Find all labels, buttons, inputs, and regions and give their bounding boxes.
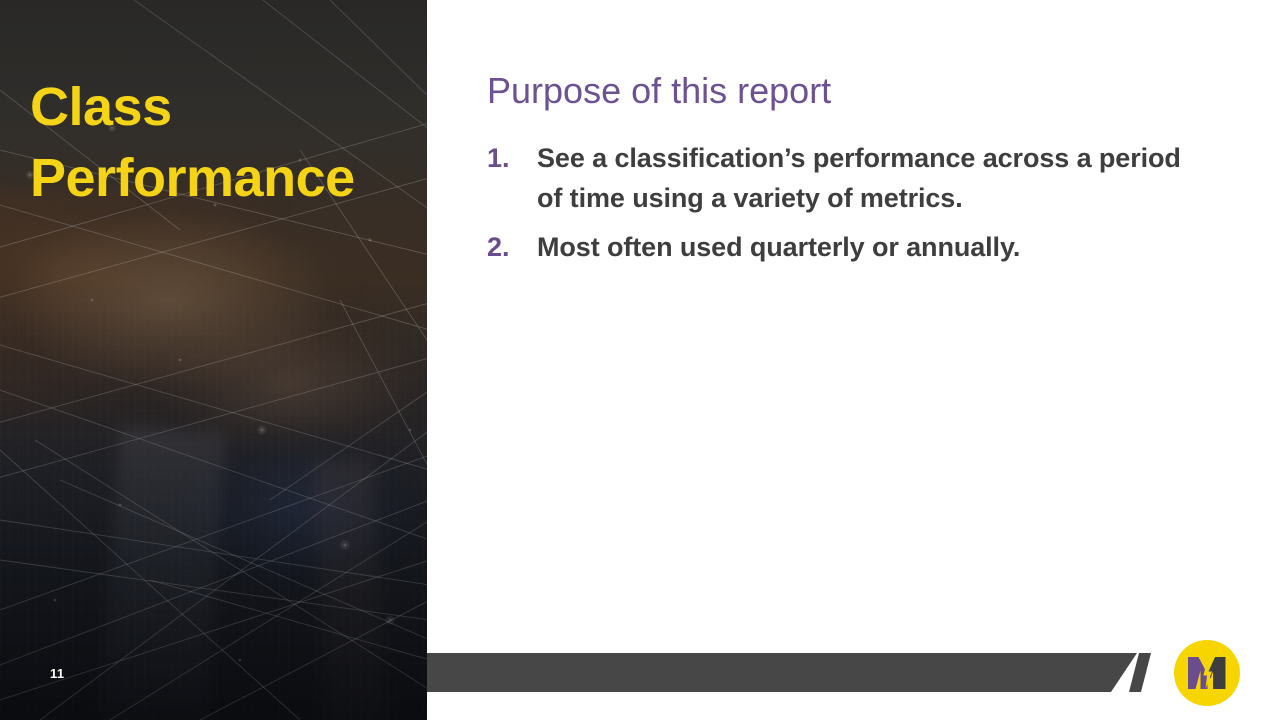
footer-bar [427, 653, 1137, 692]
list-item: 2. Most often used quarterly or annually… [487, 228, 1207, 267]
slide: Class Performance 11 Purpose of this rep… [0, 0, 1280, 720]
list-item-text: See a classification’s performance acros… [537, 139, 1187, 217]
list-item-text: Most often used quarterly or annually. [537, 228, 1020, 267]
page-number: 11 [50, 666, 64, 681]
numbered-list: 1. See a classification’s performance ac… [487, 139, 1207, 266]
slide-title: Class Performance [30, 72, 420, 215]
left-image-panel: Class Performance 11 [0, 0, 427, 720]
list-item: 1. See a classification’s performance ac… [487, 139, 1207, 217]
content-area: Purpose of this report 1. See a classifi… [487, 70, 1207, 277]
m-logo [1174, 640, 1240, 706]
list-item-marker: 1. [487, 139, 537, 178]
list-item-marker: 2. [487, 228, 537, 267]
content-heading: Purpose of this report [487, 70, 1207, 111]
